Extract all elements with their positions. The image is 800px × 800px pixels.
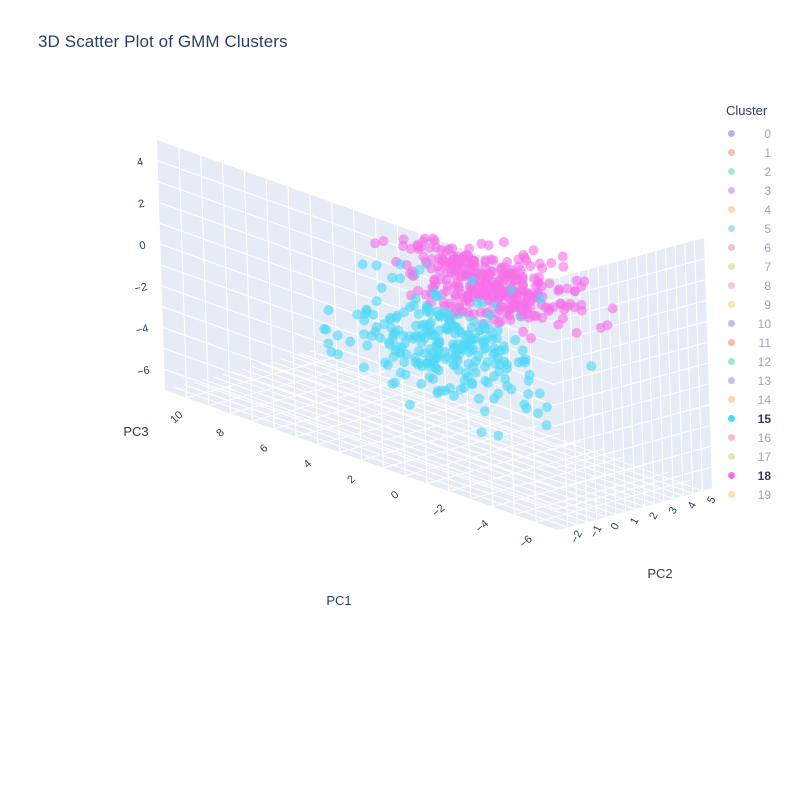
legend-item-5[interactable]: 5 (722, 219, 796, 238)
legend-item-6[interactable]: 6 (722, 238, 796, 257)
scatter3d-scene[interactable]: 420−2−4−61086420−2−4−6−2−1012345 PC3PC1P… (0, 0, 800, 800)
data-point (517, 285, 527, 295)
data-point (502, 257, 512, 267)
data-point (371, 327, 381, 337)
data-point (359, 362, 369, 372)
data-point (470, 273, 480, 283)
data-point (385, 340, 395, 350)
gridline-br-h (552, 301, 706, 343)
data-point (437, 289, 447, 299)
data-point (461, 271, 471, 281)
data-point (472, 281, 482, 291)
data-point (358, 260, 368, 270)
data-point (443, 324, 453, 334)
data-point (362, 341, 372, 351)
gridline-floor-u (493, 465, 647, 507)
data-point (402, 260, 412, 270)
gridline-bl-v (485, 257, 493, 507)
legend-item-label: 10 (751, 317, 771, 331)
data-point (429, 275, 439, 285)
data-point (558, 252, 568, 262)
data-point (426, 289, 436, 299)
data-point (395, 349, 405, 359)
data-point (504, 303, 514, 313)
data-point (362, 306, 372, 316)
gridline-br-h (551, 259, 705, 301)
data-point (469, 317, 479, 327)
data-point (421, 257, 431, 267)
data-point (453, 356, 463, 366)
data-point (452, 322, 462, 332)
data-point (425, 308, 435, 318)
data-point (461, 296, 471, 306)
axis-title-pc2: PC2 (647, 566, 672, 581)
data-point (549, 302, 559, 312)
legend-item-3[interactable]: 3 (722, 181, 796, 200)
data-point (428, 234, 438, 244)
data-point (457, 289, 467, 299)
gridline-floor-u (187, 356, 341, 398)
data-point (498, 286, 508, 296)
legend-item-18[interactable]: 18 (722, 466, 796, 485)
data-point (505, 285, 515, 295)
data-point (463, 292, 473, 302)
data-point (372, 260, 382, 270)
data-point (450, 290, 460, 300)
data-points (319, 234, 618, 441)
data-point (558, 313, 568, 323)
legend-swatch-icon (728, 130, 735, 137)
gridline-floor-u (274, 387, 428, 429)
gridline-br-h (551, 280, 705, 322)
data-point (495, 274, 505, 284)
data-point (384, 337, 394, 347)
data-point (535, 388, 545, 398)
data-point (441, 260, 451, 270)
legend-item-10[interactable]: 10 (722, 314, 796, 333)
data-point (511, 288, 521, 298)
gridline-br-h (553, 321, 707, 363)
data-point (399, 234, 409, 244)
data-point (457, 263, 467, 273)
data-point (450, 310, 460, 320)
data-point (393, 325, 403, 335)
data-point (554, 284, 564, 294)
data-point (321, 325, 331, 335)
data-point (451, 254, 461, 264)
axis-panels (157, 140, 712, 530)
data-point (400, 338, 410, 348)
data-point (544, 306, 554, 316)
legend-item-14[interactable]: 14 (722, 390, 796, 409)
data-point (425, 362, 435, 372)
gridline-bl-h (162, 307, 555, 447)
data-point (491, 359, 501, 369)
data-point (416, 358, 426, 368)
data-point (401, 370, 411, 380)
data-point (511, 294, 521, 304)
data-point (413, 241, 423, 251)
data-point (416, 242, 426, 252)
gridline-floor-v (175, 387, 568, 527)
data-point (451, 265, 461, 275)
data-point (526, 296, 536, 306)
data-point (512, 275, 522, 285)
legend-item-0[interactable]: 0 (722, 124, 796, 143)
gridline-bl-h (160, 244, 553, 384)
data-point (468, 276, 478, 286)
gridline-br-v (617, 262, 625, 512)
gridline-floor-u (318, 402, 472, 444)
axis-title-pc1: PC1 (326, 593, 351, 608)
data-point (608, 304, 618, 314)
data-point (448, 252, 458, 262)
data-point (483, 307, 493, 317)
legend-item-2[interactable]: 2 (722, 162, 796, 181)
gridline-floor-v (271, 361, 664, 501)
data-point (545, 278, 555, 288)
data-point (484, 240, 494, 250)
data-point (437, 256, 447, 266)
data-point (456, 255, 466, 265)
data-point (414, 244, 424, 254)
data-point (398, 331, 408, 341)
data-point (426, 263, 436, 273)
data-point (433, 261, 443, 271)
legend-item-16[interactable]: 16 (722, 428, 796, 447)
data-point (533, 287, 543, 297)
data-point (372, 296, 382, 306)
data-point (494, 281, 504, 291)
data-point (379, 319, 389, 329)
data-point (518, 346, 528, 356)
data-point (367, 331, 377, 341)
data-point (453, 309, 463, 319)
data-point (447, 243, 457, 253)
data-point (436, 274, 446, 284)
data-point (476, 239, 486, 249)
data-point (390, 378, 400, 388)
data-point (464, 244, 474, 254)
tick-pc1: 8 (214, 427, 227, 440)
data-point (416, 332, 426, 342)
legend-item-7[interactable]: 7 (722, 257, 796, 276)
data-point (485, 310, 495, 320)
data-point (476, 307, 486, 317)
data-point (509, 275, 519, 285)
data-point (526, 293, 536, 303)
data-point (410, 332, 420, 342)
data-point (519, 400, 529, 410)
data-point (480, 277, 490, 287)
data-point (386, 314, 396, 324)
data-point (405, 302, 415, 312)
gridline-bl-h (158, 182, 551, 322)
data-point (425, 353, 435, 363)
data-point (488, 298, 498, 308)
legend-item-label: 6 (751, 241, 771, 255)
data-point (362, 305, 372, 315)
legend-swatch-icon (728, 472, 735, 479)
legend-swatch-icon (728, 263, 735, 270)
tick-pc3: −4 (135, 323, 150, 337)
data-point (466, 286, 476, 296)
data-point (411, 353, 421, 363)
data-point (416, 379, 426, 389)
tick-pc1: −6 (518, 533, 535, 550)
data-point (508, 303, 518, 313)
legend-item-15[interactable]: 15 (722, 409, 796, 428)
data-point (408, 334, 418, 344)
gridline-bl-h (163, 328, 556, 468)
data-point (434, 266, 444, 276)
data-point (537, 300, 547, 310)
legend-item-12[interactable]: 12 (722, 352, 796, 371)
data-point (460, 375, 470, 385)
data-point (454, 345, 464, 355)
gridline-br-v (694, 241, 702, 491)
data-point (501, 291, 511, 301)
axis-gridlines (158, 148, 712, 528)
legend-item-label: 19 (751, 488, 771, 502)
data-point (541, 302, 551, 312)
data-point (464, 330, 474, 340)
data-point (449, 266, 459, 276)
data-point (479, 286, 489, 296)
data-point (506, 271, 516, 281)
gridline-bl-h (161, 265, 554, 405)
gridline-bl-v (310, 194, 318, 444)
data-point (513, 275, 523, 285)
data-point (518, 272, 528, 282)
data-point (419, 348, 429, 358)
data-point (480, 376, 490, 386)
legend-item-label: 16 (751, 431, 771, 445)
tick-pc3: 4 (136, 156, 144, 169)
gridline-br-v (685, 243, 693, 493)
data-point (544, 304, 554, 314)
data-point (497, 269, 507, 279)
data-point (522, 303, 532, 313)
data-point (522, 309, 532, 319)
gridline-floor-u (296, 395, 450, 437)
data-point (531, 293, 541, 303)
gridline-floor-v (184, 385, 577, 525)
legend-item-4[interactable]: 4 (722, 200, 796, 219)
data-point (399, 307, 409, 317)
data-point (476, 277, 486, 287)
data-point (430, 280, 440, 290)
data-point (468, 255, 478, 265)
data-point (448, 255, 458, 265)
data-point (469, 335, 479, 345)
data-point (385, 313, 395, 323)
legend-item-8[interactable]: 8 (722, 276, 796, 295)
data-point (505, 268, 515, 278)
data-point (471, 288, 481, 298)
data-point (485, 269, 495, 279)
data-point (434, 346, 444, 356)
data-point (469, 269, 479, 279)
data-point (525, 370, 535, 380)
gridline-floor-u (471, 457, 625, 499)
data-point (505, 285, 515, 295)
data-point (486, 254, 496, 264)
legend-item-11[interactable]: 11 (722, 333, 796, 352)
data-point (519, 300, 529, 310)
data-point (446, 267, 456, 277)
data-point (426, 298, 436, 308)
data-point (508, 268, 518, 278)
data-point (531, 291, 541, 301)
data-point (428, 348, 438, 358)
data-point (505, 279, 515, 289)
gridline-br-v (569, 275, 577, 525)
data-point (502, 359, 512, 369)
data-point (462, 250, 472, 260)
gridline-bl-v (244, 171, 252, 421)
data-point (467, 323, 477, 333)
data-point (436, 385, 446, 395)
data-point (386, 323, 396, 333)
data-point (433, 291, 443, 301)
gridline-bl-v (463, 249, 471, 499)
legend-item-label: 17 (751, 450, 771, 464)
data-point (422, 259, 432, 269)
tick-pc3: −6 (136, 364, 151, 378)
data-point (444, 245, 454, 255)
data-point (410, 270, 420, 280)
legend[interactable]: Cluster 012345678910111213141516171819 (722, 103, 796, 504)
tick-pc1: 0 (389, 489, 402, 502)
data-point (463, 258, 473, 268)
data-point (445, 383, 455, 393)
data-point (485, 331, 495, 341)
data-point (494, 318, 504, 328)
gridline-floor-v (252, 366, 645, 506)
data-point (505, 292, 515, 302)
data-point (533, 290, 543, 300)
gridline-br-h (557, 446, 711, 488)
data-point (555, 298, 565, 308)
legend-item-9[interactable]: 9 (722, 295, 796, 314)
data-point (494, 293, 504, 303)
tick-pc2: 5 (705, 495, 718, 506)
data-point (479, 344, 489, 354)
legend-item-13[interactable]: 13 (722, 371, 796, 390)
data-point (408, 271, 418, 281)
data-point (454, 326, 464, 336)
legend-item-17[interactable]: 17 (722, 447, 796, 466)
legend-items[interactable]: 012345678910111213141516171819 (722, 124, 796, 504)
data-point (426, 317, 436, 327)
panel-back-right (550, 238, 712, 530)
data-point (496, 317, 506, 327)
data-point (475, 326, 485, 336)
data-point (480, 343, 490, 353)
data-point (391, 257, 401, 267)
axis-title-pc3: PC3 (123, 424, 148, 439)
data-point (440, 386, 450, 396)
data-point (475, 279, 485, 289)
data-point (391, 341, 401, 351)
data-point (558, 262, 568, 272)
data-point (345, 337, 355, 347)
data-point (469, 260, 479, 270)
data-point (431, 291, 441, 301)
data-point (559, 304, 569, 314)
data-point (454, 300, 464, 310)
data-point (441, 286, 451, 296)
data-point (490, 289, 500, 299)
gridline-br-h (556, 426, 710, 468)
data-point (496, 284, 506, 294)
data-point (459, 383, 469, 393)
data-point (484, 324, 494, 334)
data-point (466, 285, 476, 295)
data-point (488, 267, 498, 277)
data-point (425, 356, 435, 366)
data-point (453, 339, 463, 349)
data-point (395, 347, 405, 357)
data-point (399, 357, 409, 367)
data-point (596, 323, 606, 333)
data-point (483, 378, 493, 388)
data-point (511, 292, 521, 302)
data-point (514, 262, 524, 272)
data-point (602, 320, 612, 330)
data-point (387, 273, 397, 283)
gridline-floor-u (252, 379, 406, 421)
data-point (529, 311, 539, 321)
data-point (451, 353, 461, 363)
data-point (440, 347, 450, 357)
data-point (437, 254, 447, 264)
data-point (478, 319, 488, 329)
data-point (420, 234, 430, 244)
data-point (481, 255, 491, 265)
gridline-floor-v (213, 377, 606, 517)
data-point (435, 312, 445, 322)
gridline-bl-v (201, 156, 209, 406)
axis-titles: PC3PC1PC2 (123, 424, 672, 608)
data-point (418, 330, 428, 340)
data-point (456, 384, 466, 394)
data-point (473, 289, 483, 299)
data-point (427, 331, 437, 341)
data-point (481, 290, 491, 300)
data-point (466, 270, 476, 280)
legend-item-19[interactable]: 19 (722, 485, 796, 504)
data-point (534, 272, 544, 282)
data-point (448, 321, 458, 331)
data-point (499, 345, 509, 355)
data-point (518, 274, 528, 284)
legend-item-1[interactable]: 1 (722, 143, 796, 162)
data-point (454, 260, 464, 270)
data-point (523, 389, 533, 399)
data-point (449, 344, 459, 354)
data-point (402, 350, 412, 360)
data-point (521, 403, 531, 413)
data-point (499, 271, 509, 281)
data-point (461, 269, 471, 279)
data-point (466, 261, 476, 271)
data-point (421, 358, 431, 368)
data-point (520, 253, 530, 263)
legend-item-label: 1 (751, 146, 771, 160)
tick-pc1: −4 (474, 518, 491, 535)
